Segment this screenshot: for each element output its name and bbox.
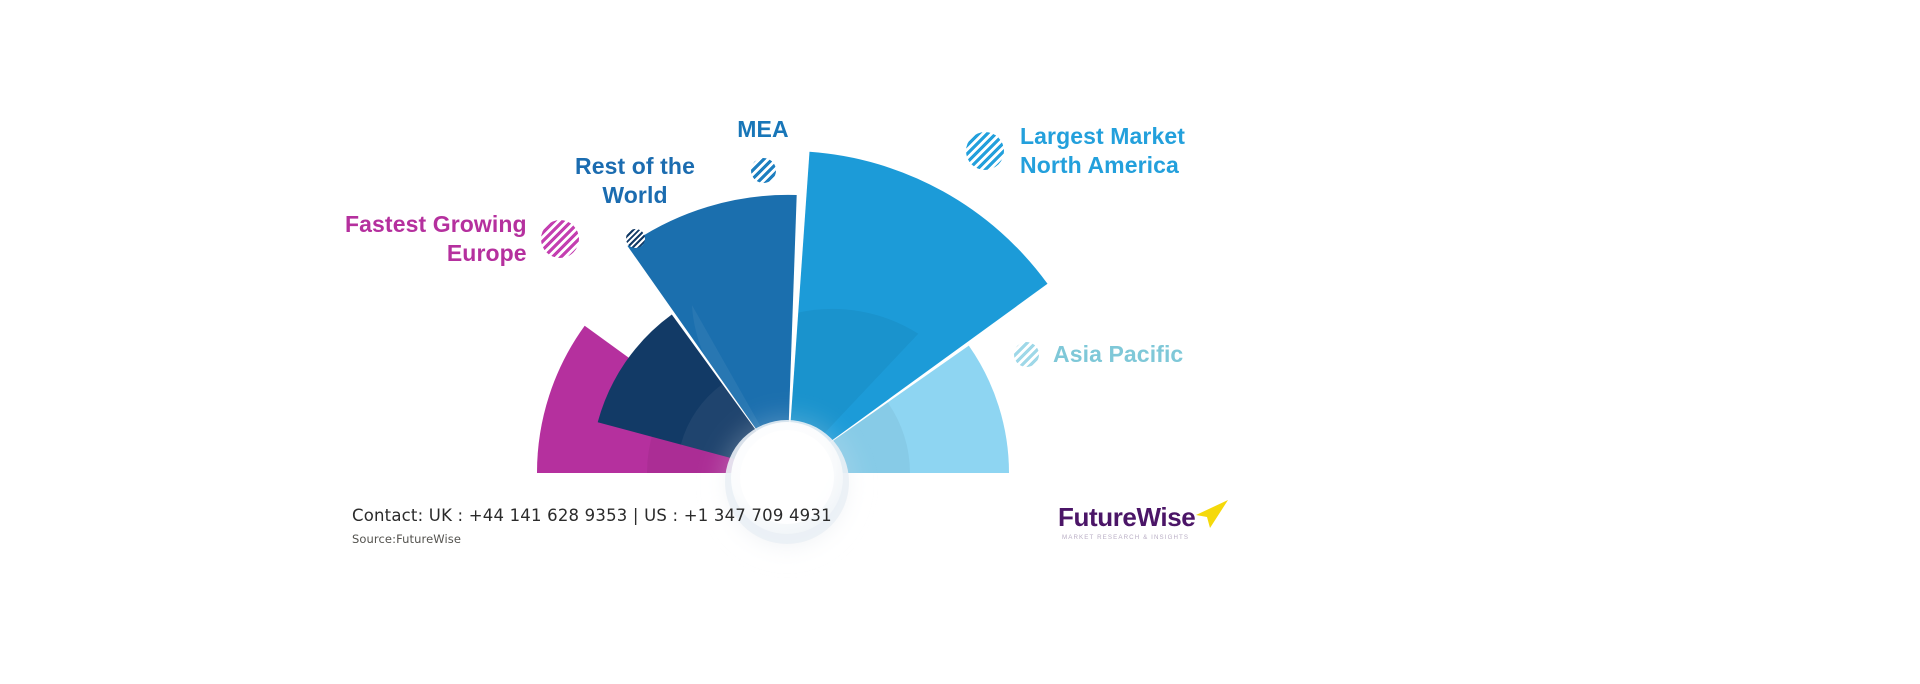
legend-item-asia-pacific[interactable]: Asia Pacific [1014, 340, 1183, 369]
logo-wordmark: FutureWise [1058, 502, 1195, 533]
regional-fan-chart [0, 0, 1920, 684]
legend-label-mea-line1: MEA [737, 116, 788, 142]
legend-label-europe: Fastest Growing Europe [345, 210, 527, 267]
legend-swatch-north-america-hatched-circle-icon [966, 132, 1004, 170]
footer-contact-line: Contact: UK : +44 141 628 9353 | US : +1… [352, 506, 1112, 525]
legend-label-north-america: Largest Market North America [1020, 122, 1185, 179]
legend-label-na-line1: Largest Market [1020, 123, 1185, 149]
footer: Contact: UK : +44 141 628 9353 | US : +1… [352, 506, 1112, 546]
futurewise-logo[interactable]: FutureWise MARKET RESEARCH & INSIGHTS [1058, 498, 1233, 554]
legend-item-north-america[interactable]: Largest Market North America [966, 122, 1185, 179]
legend-label-europe-line2: Europe [345, 239, 527, 268]
legend-label-europe-line1: Fastest Growing [345, 211, 527, 237]
legend-item-rest-of-the-world[interactable]: Rest of the World [560, 152, 710, 248]
legend-label-row-line2: World [575, 181, 695, 210]
footer-source-line: Source:FutureWise [352, 532, 1112, 546]
infographic-canvas: Fastest Growing Europe Rest of the World… [0, 0, 1920, 684]
legend-label-row-line1: Rest of the [575, 153, 695, 179]
legend-label-na-line2: North America [1020, 151, 1185, 180]
legend-label-mea: MEA [737, 115, 788, 144]
legend-item-europe[interactable]: Fastest Growing Europe [345, 210, 545, 267]
logo-tagline: MARKET RESEARCH & INSIGHTS [1062, 534, 1189, 541]
legend-label-ap-line1: Asia Pacific [1053, 341, 1183, 367]
legend-label-asia-pacific: Asia Pacific [1053, 340, 1183, 369]
logo-arrow-icon [1188, 498, 1230, 532]
legend-label-rest-of-the-world: Rest of the World [575, 152, 695, 209]
legend-swatch-asia-pacific-hatched-circle-icon [1014, 342, 1039, 367]
legend-swatch-mea-hatched-circle-icon [751, 158, 776, 183]
legend-item-mea[interactable]: MEA [715, 115, 811, 183]
legend-swatch-rest-of-the-world-hatched-circle-icon [626, 229, 645, 248]
